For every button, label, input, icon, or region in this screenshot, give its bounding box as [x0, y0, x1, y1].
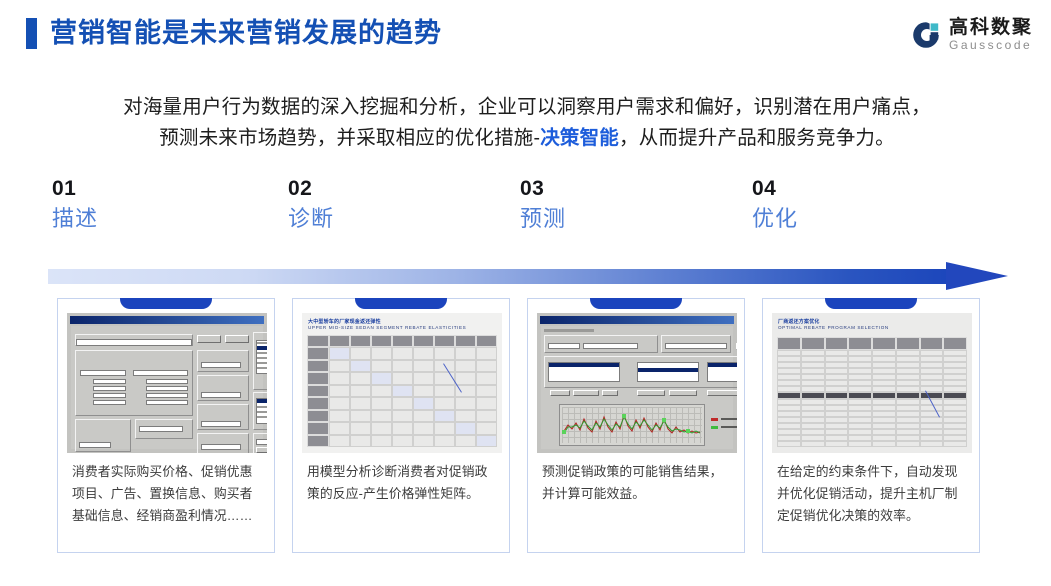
card-tab [355, 298, 447, 309]
title-text: 营销智能是未来营销发展的趋势 [50, 18, 442, 49]
progress-arrow-bar [48, 269, 958, 284]
step-02-number: 02 [288, 176, 488, 202]
rebate-title-cn: 厂商返还方案优化 [778, 318, 820, 325]
step-03: 03 预测 [520, 176, 720, 236]
lead-line-2: 预测未来市场趋势，并采取相应的优化措施-决策智能，从而提升产品和服务竞争力。 [52, 123, 1002, 154]
page-title: 营销智能是未来营销发展的趋势 [26, 18, 442, 49]
step-03-label: 预测 [520, 202, 720, 236]
card-01-thumbnail [67, 313, 267, 453]
step-04: 04 优化 [752, 176, 952, 236]
step-02-label: 诊断 [288, 202, 488, 236]
lead-line-1: 对海量用户行为数据的深入挖掘和分析，企业可以洞察用户需求和偏好，识别潜在用户痛点… [52, 92, 1002, 123]
step-02: 02 诊断 [288, 176, 488, 236]
slide-root: 营销智能是未来营销发展的趋势 高科数聚 Gausscode 对海量用户行为数据的… [0, 0, 1051, 586]
brand-logo: 高科数聚 Gausscode [910, 17, 1033, 52]
card-03-caption: 预测促销政策的可能销售结果，并计算可能效益。 [542, 461, 734, 505]
step-01: 01 描述 [52, 176, 252, 236]
matrix-title-en: UPPER MID-SIZE SEDAN SEGMENT REBATE ELAS… [308, 325, 466, 330]
step-04-number: 04 [752, 176, 952, 202]
progress-arrow [48, 262, 1008, 290]
gausscode-logo-icon [910, 19, 942, 51]
card-tab [825, 298, 917, 309]
card-02-diagnose[interactable]: 大中型轿车的厂家现金返还弹性 UPPER MID-SIZE SEDAN SEGM… [292, 298, 510, 553]
card-03-predict[interactable]: 预测促销政策的可能销售结果，并计算可能效益。 [527, 298, 745, 553]
card-02-caption: 用模型分析诊断消费者对促销政策的反应-产生价格弹性矩阵。 [307, 461, 499, 505]
card-tab [590, 298, 682, 309]
lead-line-2-pre: 预测未来市场趋势，并采取相应的优化措施- [159, 127, 540, 149]
card-03-thumbnail [537, 313, 737, 453]
card-tab [120, 298, 212, 309]
progress-arrow-head-icon [946, 262, 1008, 290]
lead-line-2-post: ，从而提升产品和服务竞争力。 [619, 127, 895, 149]
logo-name-en: Gausscode [949, 38, 1033, 52]
step-01-number: 01 [52, 176, 252, 202]
rebate-title-en: OPTIMAL REBATE PROGRAM SELECTION [778, 325, 889, 330]
card-04-caption: 在给定的约束条件下，自动发现并优化促销活动，提升主机厂制定促销优化决策的效率。 [777, 461, 969, 527]
card-04-thumbnail: 厂商返还方案优化 OPTIMAL REBATE PROGRAM SELECTIO… [772, 313, 972, 453]
matrix-title-cn: 大中型轿车的厂家现金返还弹性 [308, 318, 381, 325]
slide-header: 营销智能是未来营销发展的趋势 高科数聚 Gausscode [0, 0, 1051, 72]
title-accent-bar [26, 18, 37, 49]
step-labels: 01 描述 02 诊断 03 预测 04 优化 [0, 176, 1051, 248]
lead-highlight: 决策智能 [540, 127, 619, 149]
step-04-label: 优化 [752, 202, 952, 236]
card-04-optimize[interactable]: 厂商返还方案优化 OPTIMAL REBATE PROGRAM SELECTIO… [762, 298, 980, 553]
logo-name-cn: 高科数聚 [949, 17, 1033, 38]
lead-paragraph: 对海量用户行为数据的深入挖掘和分析，企业可以洞察用户需求和偏好，识别潜在用户痛点… [52, 92, 1002, 154]
card-row: 消费者实际购买价格、促销优惠项目、广告、置换信息、购买者基础信息、经销商盈利情况… [0, 298, 1051, 553]
step-01-label: 描述 [52, 202, 252, 236]
card-01-describe[interactable]: 消费者实际购买价格、促销优惠项目、广告、置换信息、购买者基础信息、经销商盈利情况… [57, 298, 275, 553]
step-03-number: 03 [520, 176, 720, 202]
card-01-caption: 消费者实际购买价格、促销优惠项目、广告、置换信息、购买者基础信息、经销商盈利情况… [72, 461, 264, 527]
logo-wordmark: 高科数聚 Gausscode [949, 17, 1033, 52]
card-02-thumbnail: 大中型轿车的厂家现金返还弹性 UPPER MID-SIZE SEDAN SEGM… [302, 313, 502, 453]
